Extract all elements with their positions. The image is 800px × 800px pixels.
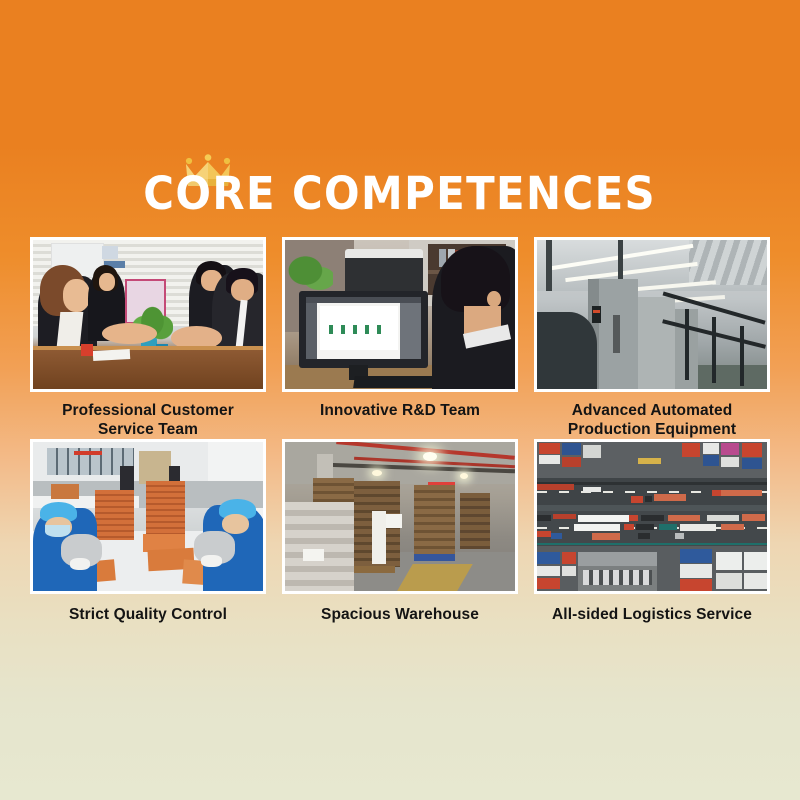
photo-innovative-rd-team: [282, 237, 518, 392]
photo-strict-quality-control: [30, 439, 266, 594]
photo-spacious-warehouse: [282, 439, 518, 594]
competence-card-strict-quality-control[interactable]: Strict Quality Control: [30, 439, 266, 624]
competence-card-professional-customer-service-team[interactable]: Professional Customer Service Team: [30, 237, 266, 439]
page-title: CORE COMPETENCES: [144, 168, 657, 220]
competence-card-innovative-rd-team[interactable]: Innovative R&D Team: [282, 237, 518, 439]
title-block: CORE COMPETENCES: [0, 152, 800, 220]
photo-all-sided-logistics-service: [534, 439, 770, 594]
caption-spacious-warehouse: Spacious Warehouse: [282, 605, 518, 624]
caption-line-1: Strict Quality Control: [30, 605, 266, 624]
caption-strict-quality-control: Strict Quality Control: [30, 605, 266, 624]
caption-line-1: Innovative R&D Team: [282, 401, 518, 420]
caption-innovative-rd-team: Innovative R&D Team: [282, 401, 518, 420]
caption-professional-customer-service-team: Professional Customer Service Team: [30, 401, 266, 439]
caption-line-1: Professional Customer: [30, 401, 266, 420]
core-competences-banner: CORE COMPETENCES Professional Custom: [0, 0, 800, 800]
caption-line-1: Advanced Automated: [534, 401, 770, 420]
competence-card-all-sided-logistics-service[interactable]: All-sided Logistics Service: [534, 439, 770, 624]
competence-card-spacious-warehouse[interactable]: Spacious Warehouse: [282, 439, 518, 624]
caption-line-1: All-sided Logistics Service: [534, 605, 770, 624]
caption-line-2: Service Team: [30, 420, 266, 439]
caption-all-sided-logistics-service: All-sided Logistics Service: [534, 605, 770, 624]
caption-advanced-automated-production-equipment: Advanced Automated Production Equipment: [534, 401, 770, 439]
caption-line-2: Production Equipment: [534, 420, 770, 439]
caption-line-1: Spacious Warehouse: [282, 605, 518, 624]
competence-card-advanced-automated-production-equipment[interactable]: Advanced Automated Production Equipment: [534, 237, 770, 439]
photo-advanced-automated-production-equipment: [534, 237, 770, 392]
photo-professional-customer-service-team: [30, 237, 266, 392]
competence-grid: Professional Customer Service Team: [30, 237, 770, 624]
